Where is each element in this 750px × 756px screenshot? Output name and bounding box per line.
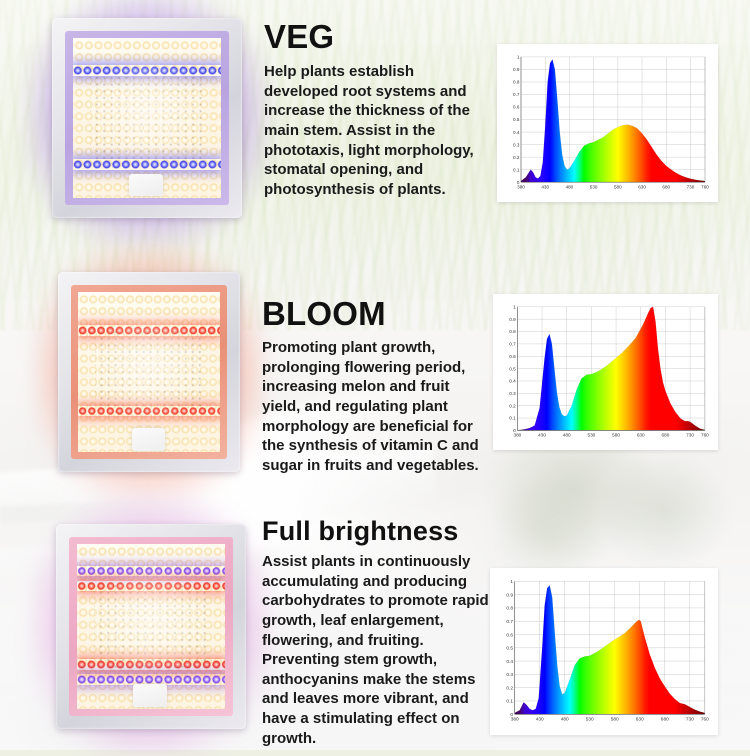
section-full-brightness: Full brightness Assist plants in continu…	[0, 510, 750, 750]
spectrum-chart-full-svg: 38043048053058063068073076000.10.20.30.4…	[494, 574, 711, 731]
spectrum-chart-veg-svg: 38043048053058063068073076000.10.20.30.4…	[501, 50, 711, 198]
led-chip-shadows	[90, 73, 203, 162]
svg-text:0.3: 0.3	[509, 391, 516, 396]
led-chip-shadows	[95, 327, 203, 417]
svg-text:680: 680	[661, 717, 669, 723]
svg-text:730: 730	[686, 433, 694, 438]
svg-text:760: 760	[701, 433, 709, 438]
lamp-led-board	[73, 38, 222, 198]
spectrum-chart-full-brightness: 38043048053058063068073076000.10.20.30.4…	[490, 568, 718, 735]
led-grow-light-panel-veg	[52, 18, 242, 218]
section-veg: VEG Help plants establish developed root…	[0, 0, 750, 250]
spectrum-chart-bloom: 38043048053058063068073076000.10.20.30.4…	[493, 294, 718, 450]
svg-text:480: 480	[563, 433, 571, 438]
text-block-veg: VEG Help plants establish developed root…	[264, 20, 486, 199]
svg-text:0.6: 0.6	[509, 354, 516, 359]
lamp-led-board	[77, 544, 226, 708]
svg-text:0.3: 0.3	[506, 672, 513, 678]
svg-text:0.4: 0.4	[513, 130, 520, 135]
svg-text:0.1: 0.1	[506, 699, 513, 705]
svg-text:0.1: 0.1	[509, 416, 516, 421]
svg-text:0.8: 0.8	[513, 80, 520, 85]
svg-text:1: 1	[513, 305, 516, 310]
svg-text:630: 630	[636, 717, 644, 723]
svg-text:730: 730	[686, 717, 694, 723]
text-block-full-brightness: Full brightness Assist plants in continu…	[262, 518, 492, 748]
svg-text:760: 760	[701, 184, 709, 189]
svg-text:730: 730	[687, 184, 695, 189]
svg-text:0.8: 0.8	[506, 606, 513, 612]
lamp-inner-bezel	[69, 537, 232, 715]
svg-text:0.4: 0.4	[506, 659, 513, 665]
svg-text:0.4: 0.4	[509, 379, 516, 384]
svg-text:530: 530	[586, 717, 594, 723]
svg-text:0.6: 0.6	[513, 105, 520, 110]
spectrum-chart-veg: 38043048053058063068073076000.10.20.30.4…	[497, 44, 718, 202]
red-led-row-top	[78, 325, 220, 335]
lamp-frame	[58, 272, 240, 472]
lamp-inner-bezel	[71, 285, 228, 460]
svg-text:0.6: 0.6	[506, 632, 513, 638]
svg-text:480: 480	[566, 184, 574, 189]
spectrum-chart-bloom-svg: 38043048053058063068073076000.10.20.30.4…	[497, 300, 711, 446]
svg-text:0.5: 0.5	[513, 117, 520, 122]
svg-text:680: 680	[662, 184, 670, 189]
infographic-page: VEG Help plants establish developed root…	[0, 0, 750, 750]
blue-led-row-bottom	[73, 159, 222, 169]
red-led-row-bottom	[78, 406, 220, 416]
section-heading-veg: VEG	[264, 20, 486, 53]
svg-text:630: 630	[637, 433, 645, 438]
text-block-bloom: BLOOM Promoting plant growth, prolonging…	[262, 297, 490, 475]
svg-text:0.2: 0.2	[513, 155, 520, 160]
svg-text:430: 430	[538, 433, 546, 438]
svg-text:380: 380	[517, 184, 525, 189]
svg-text:530: 530	[590, 184, 598, 189]
blue-led-row-top	[73, 65, 222, 75]
red-led-row-bottom	[77, 659, 226, 670]
svg-text:430: 430	[541, 184, 549, 189]
svg-text:0.9: 0.9	[506, 592, 513, 598]
svg-text:580: 580	[614, 184, 622, 189]
svg-text:580: 580	[611, 717, 619, 723]
svg-text:580: 580	[612, 433, 620, 438]
svg-text:0.9: 0.9	[509, 317, 516, 322]
svg-text:0.1: 0.1	[513, 167, 520, 172]
svg-text:480: 480	[561, 717, 569, 723]
lamp-frame	[52, 18, 242, 218]
section-heading-full-brightness: Full brightness	[262, 518, 492, 545]
svg-text:0: 0	[513, 428, 516, 433]
lamp-sensor-module	[133, 684, 167, 707]
section-body-full-brightness: Assist plants in continuously accumulati…	[262, 552, 492, 748]
svg-text:0.7: 0.7	[509, 342, 516, 347]
section-heading-bloom: BLOOM	[262, 297, 490, 330]
lamp-sensor-module	[132, 428, 165, 450]
led-grow-light-panel-full	[56, 524, 246, 729]
svg-text:0: 0	[510, 712, 513, 718]
svg-text:1: 1	[510, 579, 513, 585]
svg-text:530: 530	[587, 433, 595, 438]
led-grow-light-panel-bloom	[58, 272, 240, 472]
svg-text:0.5: 0.5	[506, 646, 513, 652]
lamp-sensor-module	[129, 174, 163, 196]
section-body-veg: Help plants establish developed root sys…	[264, 62, 486, 199]
svg-text:0.3: 0.3	[513, 142, 520, 147]
svg-text:680: 680	[662, 433, 670, 438]
svg-text:1: 1	[517, 55, 520, 60]
lamp-frame	[56, 524, 246, 729]
svg-text:0.5: 0.5	[509, 366, 516, 371]
svg-text:630: 630	[638, 184, 646, 189]
lamp-inner-bezel	[65, 31, 228, 204]
svg-text:0.9: 0.9	[513, 67, 520, 72]
violet-led-row-top	[77, 566, 226, 577]
svg-text:380: 380	[513, 433, 521, 438]
svg-text:0.7: 0.7	[513, 92, 520, 97]
svg-text:0.7: 0.7	[506, 619, 513, 625]
section-body-bloom: Promoting plant growth, prolonging flowe…	[262, 338, 490, 475]
svg-text:0.8: 0.8	[509, 329, 516, 334]
svg-text:430: 430	[536, 717, 544, 723]
section-bloom: BLOOM Promoting plant growth, prolonging…	[0, 250, 750, 510]
svg-text:0.2: 0.2	[506, 685, 513, 691]
svg-text:760: 760	[701, 717, 709, 723]
svg-text:0.2: 0.2	[509, 403, 516, 408]
lamp-led-board	[78, 292, 220, 453]
red-led-row-top	[77, 581, 226, 592]
